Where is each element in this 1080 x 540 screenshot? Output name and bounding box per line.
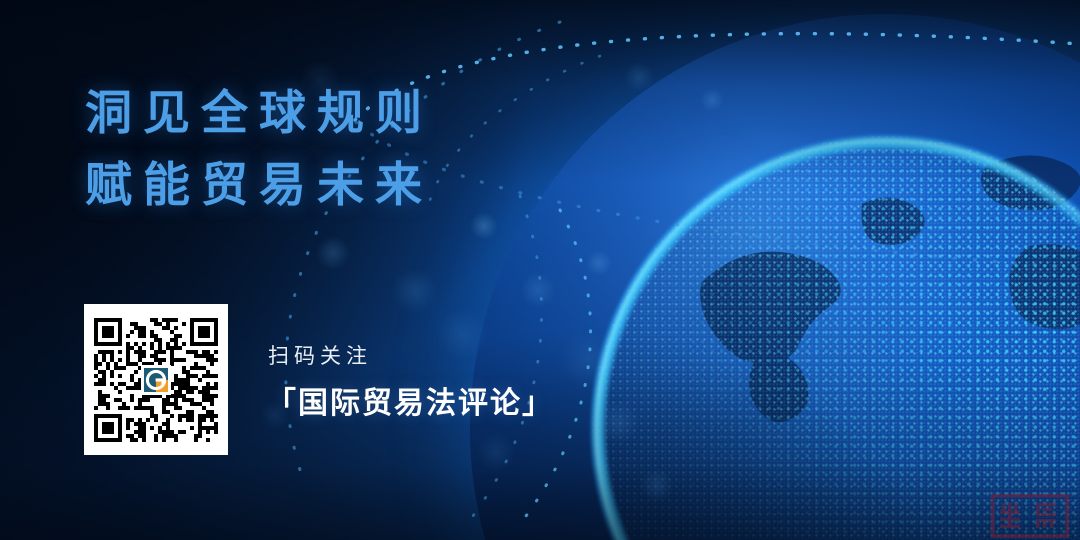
headline-line-2: 赋能贸易未来 bbox=[85, 150, 545, 222]
brand-g-icon bbox=[143, 367, 169, 393]
seal-stamp-icon bbox=[991, 494, 1069, 538]
headline: 洞见全球规则 赋能贸易未来 bbox=[85, 78, 545, 222]
qr-code-matrix bbox=[94, 318, 218, 442]
headline-line-1: 洞见全球规则 bbox=[85, 78, 545, 150]
seal-watermark bbox=[991, 494, 1069, 538]
qr-center-logo bbox=[141, 365, 171, 395]
qr-code[interactable] bbox=[84, 304, 228, 455]
account-name: 「国际贸易法评论」 bbox=[266, 378, 554, 422]
banner-canvas: 洞见全球规则 赋能贸易未来 扫码关注 「国际贸易法评论」 bbox=[0, 0, 1080, 540]
scan-prompt: 扫码关注 bbox=[268, 340, 372, 370]
